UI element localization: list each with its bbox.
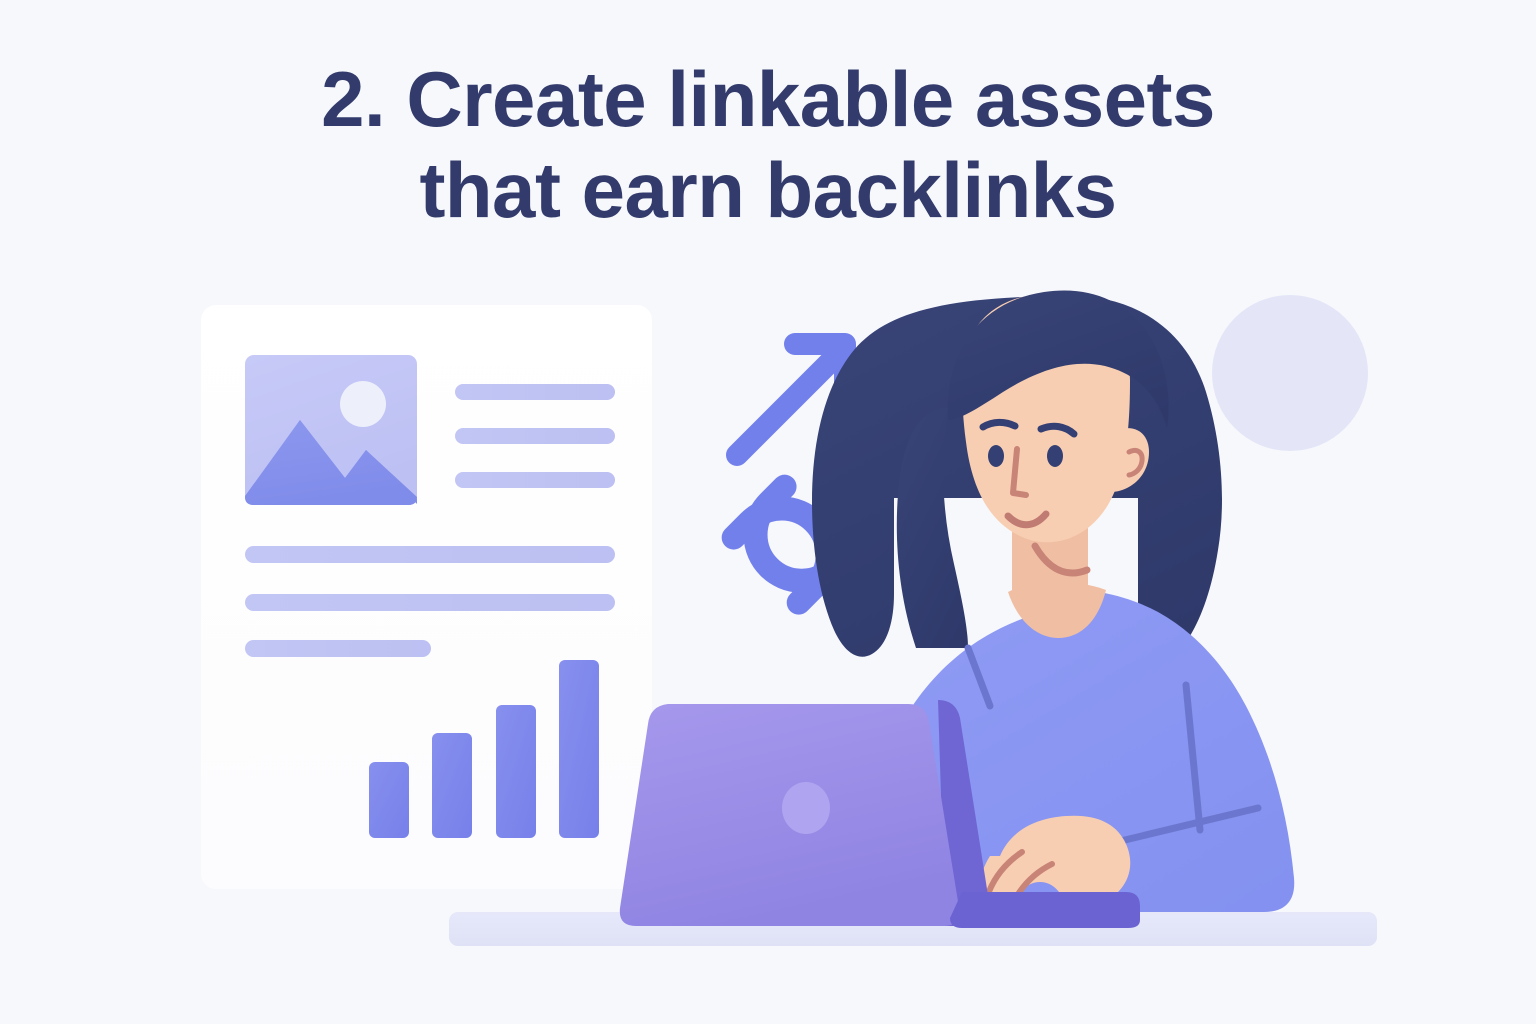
illustration-svg [0,0,1536,1024]
eye-right [1047,445,1063,467]
image-placeholder [245,355,417,505]
bar-2 [432,733,472,838]
content-card [201,305,652,889]
illustration-canvas: 2. Create linkable assets that earn back… [0,0,1536,1024]
text-line [245,546,615,563]
eye-left [988,445,1004,467]
text-line [455,384,615,400]
bar-1 [369,762,409,838]
laptop-base [950,892,1140,928]
text-line [455,428,615,444]
text-line [245,594,615,611]
text-line [455,472,615,488]
placeholder-sun-icon [340,381,386,427]
decorative-circle [1212,295,1368,451]
bar-3 [496,705,536,838]
laptop-logo [782,782,830,834]
text-line [245,640,431,657]
bar-4 [559,660,599,838]
